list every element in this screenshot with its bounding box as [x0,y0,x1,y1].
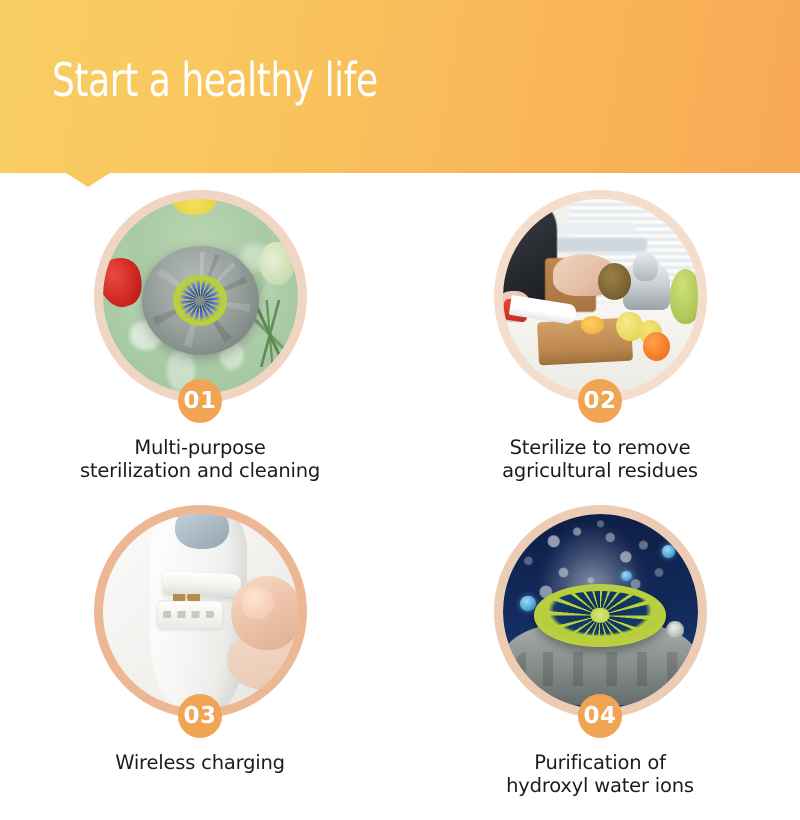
feature-badge-02: 02 [578,379,622,423]
feature-card-02[interactable]: 02 Sterilize to remove agricultural resi… [400,190,800,505]
feature-card-grid: 01 Multi-purpose sterilization and clean… [0,190,800,820]
feature-photo-04: 04 [494,505,707,718]
photo-ring-border-01 [94,190,307,403]
feature-badge-04: 04 [578,694,622,738]
photo-ring-border-02 [494,190,707,403]
feature-photo-02: 02 [494,190,707,403]
feature-caption-04: Purification of hydroxyl water ions [506,751,694,797]
feature-caption-02: Sterilize to remove agricultural residue… [502,436,698,482]
feature-caption-03: Wireless charging [115,751,285,774]
header-banner: Start a healthy life [0,0,800,173]
feature-photo-01: 01 [94,190,307,403]
feature-card-03[interactable]: 03 Wireless charging [0,505,400,820]
photo-ring-border-04 [494,505,707,718]
feature-badge-01: 01 [178,379,222,423]
photo-ring-border-03 [94,505,307,718]
feature-photo-03: 03 [94,505,307,718]
feature-badge-03: 03 [178,694,222,738]
header-notch-triangle [66,173,110,187]
feature-card-04[interactable]: 04 Purification of hydroxyl water ions [400,505,800,820]
feature-card-01[interactable]: 01 Multi-purpose sterilization and clean… [0,190,400,505]
feature-caption-01: Multi-purpose sterilization and cleaning [80,436,320,482]
page-title: Start a healthy life [52,52,378,108]
